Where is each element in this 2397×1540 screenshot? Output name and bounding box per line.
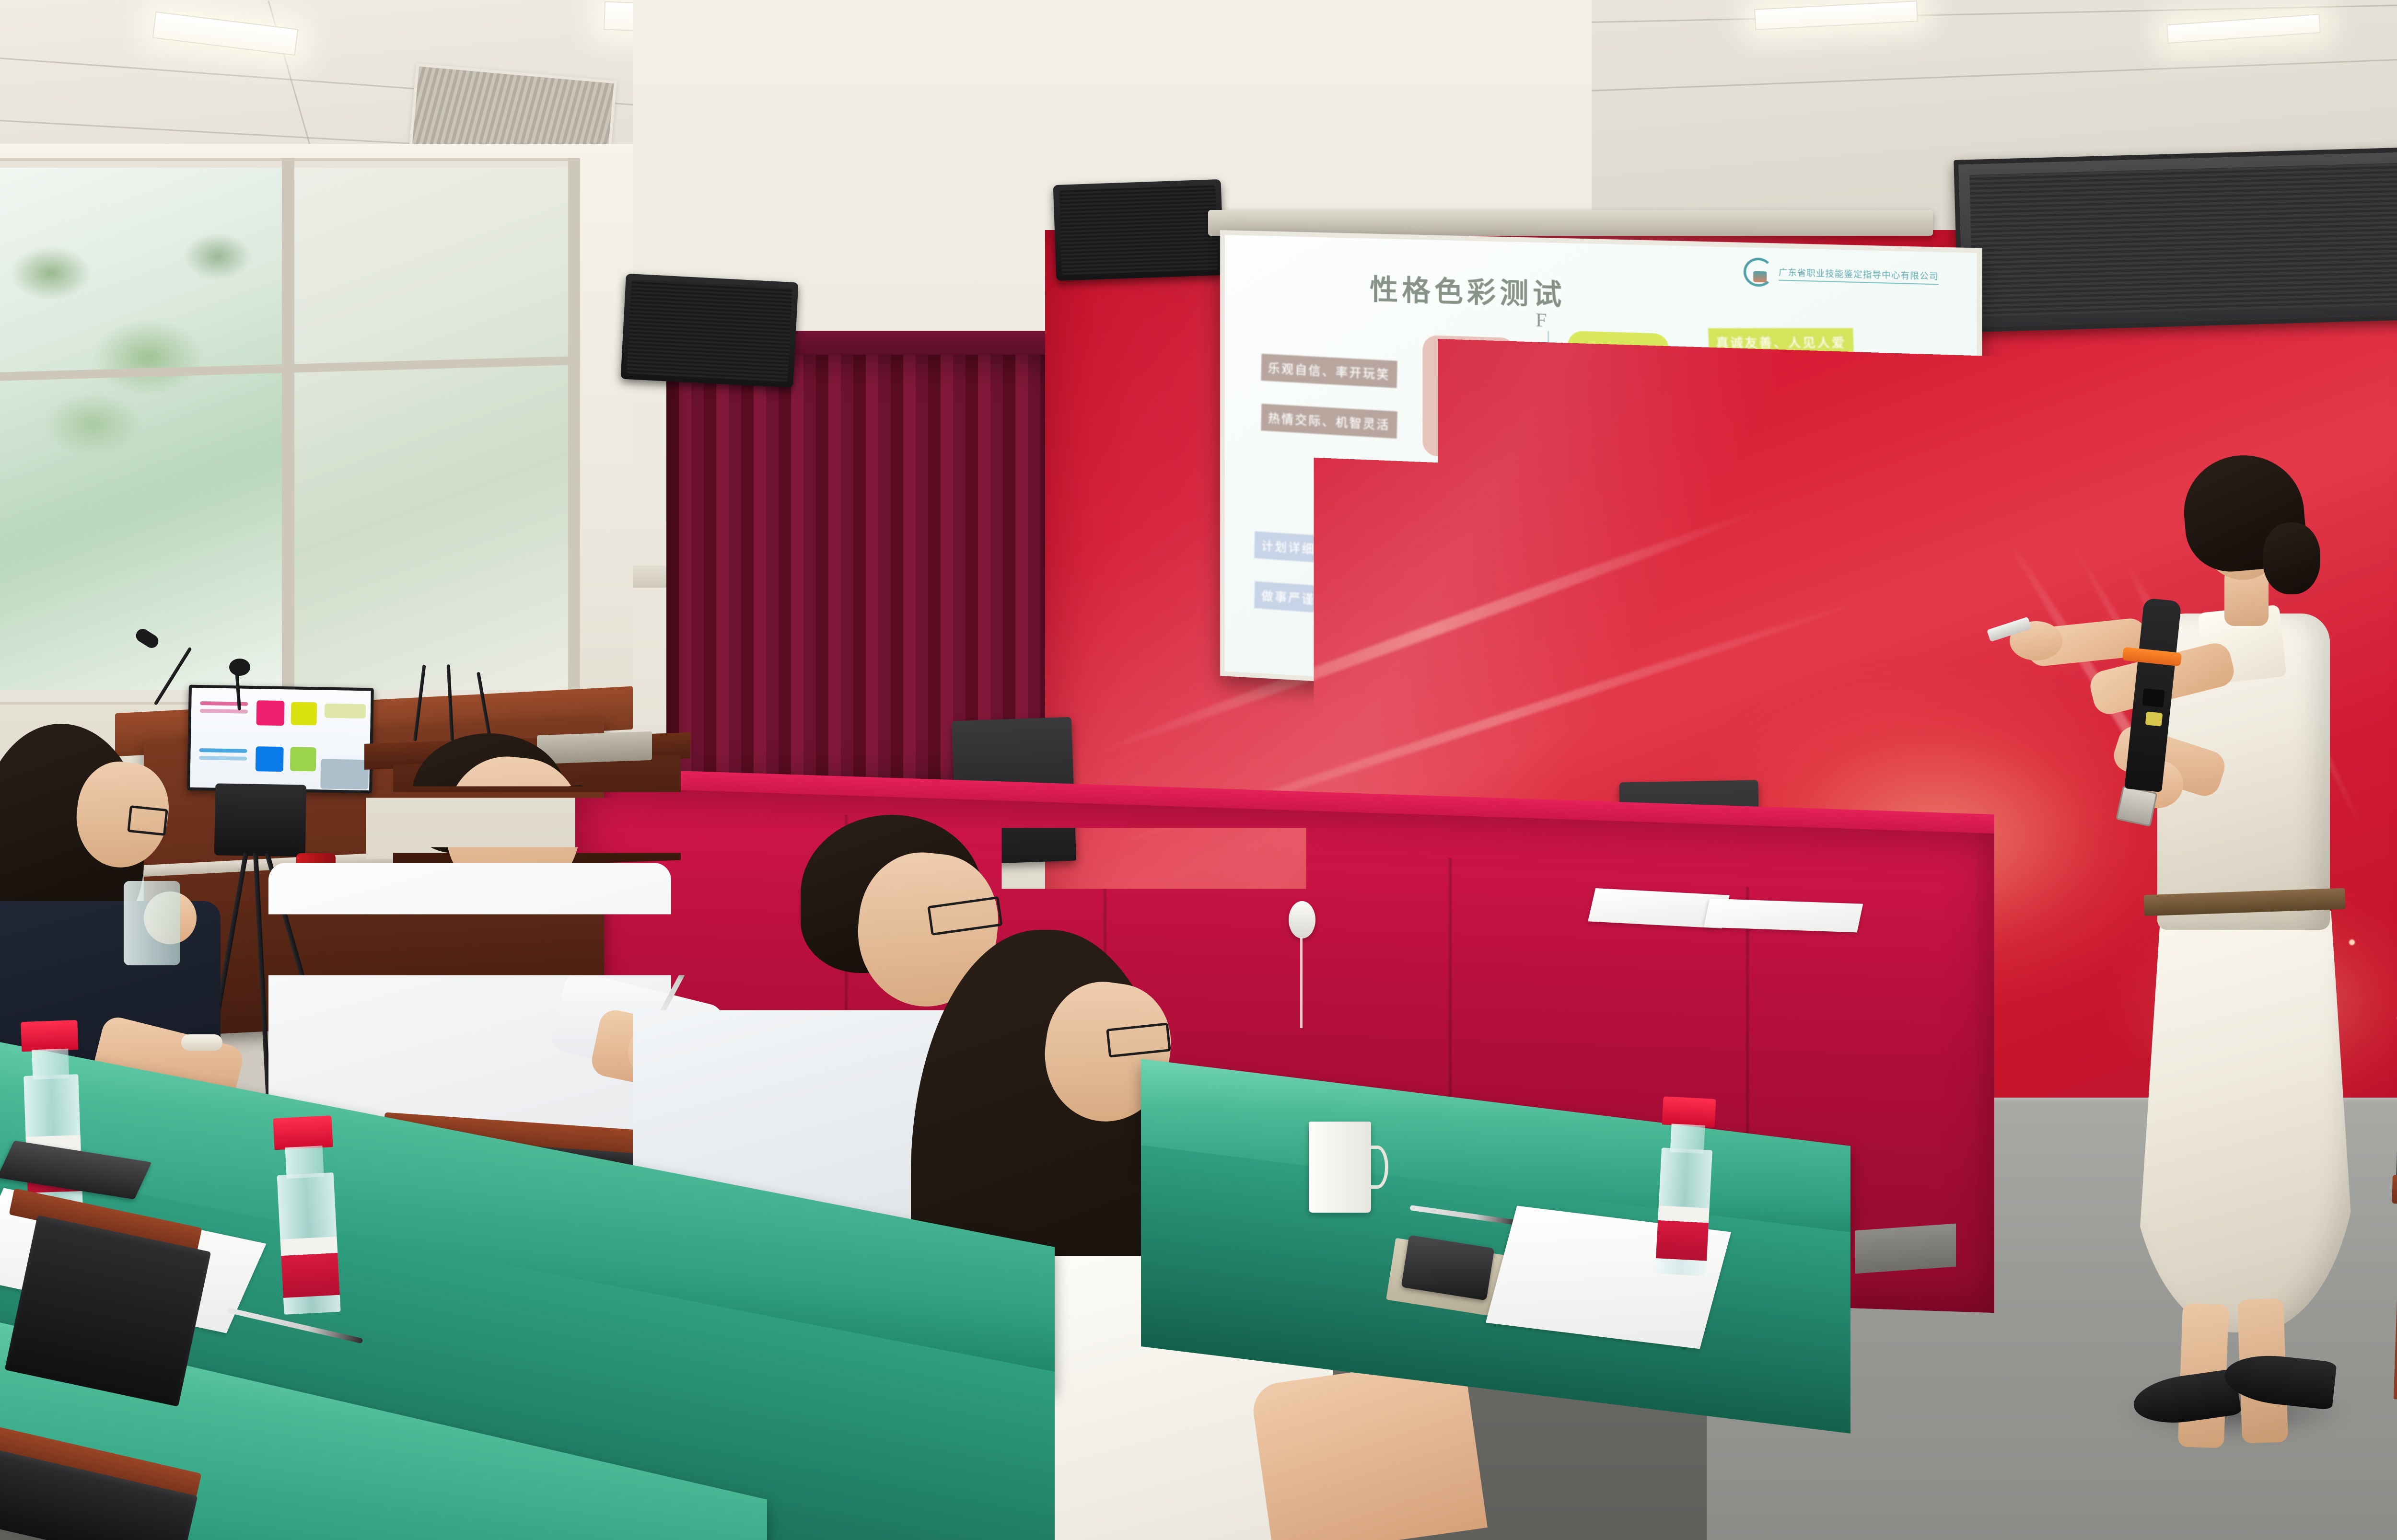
bottle-body [277, 1172, 340, 1315]
mug-handle [1366, 1146, 1388, 1189]
monitor-chip-tile [291, 702, 317, 725]
slide-tag: 稳定低调、追求和谐 [1691, 607, 1836, 638]
wall-speaker [620, 274, 798, 388]
monitor-chip-tile [256, 700, 284, 726]
conference-room-scene: 2025 年 6 月 6 星期 4 15:55:18 性格色彩测试 广东省职业技… [0, 0, 2397, 1540]
slide-tag: 计划详细、思维清晰 [1254, 531, 1390, 567]
presenter-skirt [2129, 911, 2359, 1332]
podium-monitor-screen [190, 688, 371, 790]
document-sheet[interactable] [1704, 899, 1863, 933]
bottle-cap [273, 1115, 333, 1150]
wall-speaker [1053, 179, 1224, 281]
axis-label-f: F [1536, 308, 1547, 332]
bottle-body [1655, 1148, 1712, 1276]
slide-tag: 与人为善、心态轻松 [1694, 552, 1839, 582]
microphone-button[interactable] [2145, 711, 2163, 726]
quadrant-box-yellow [1568, 331, 1669, 466]
slide-tag: 情绪丰富、不拘小节 [1704, 382, 1850, 410]
backdrop-sparkle [2349, 939, 2355, 945]
window-mullion [282, 158, 294, 709]
axis-label-s: S [1536, 665, 1547, 689]
window-foliage [0, 173, 273, 508]
podium-mic-capsule [229, 659, 250, 676]
slide-tag: 热情交际、机智灵活 [1261, 404, 1397, 439]
presenter-hair-bun [2263, 522, 2320, 594]
monitor-chip-bar [199, 756, 247, 761]
cable-hook [1289, 901, 1315, 938]
slide-tag: 做事严谨、追求精确 [1254, 581, 1390, 618]
extinguisher-valve [305, 834, 325, 855]
slide-logo-text: 广东省职业技能鉴定指导中心有限公司 [1779, 265, 1939, 285]
water-glass[interactable] [124, 881, 180, 965]
monitor-chip-bar [199, 748, 247, 753]
projection-screen: 性格色彩测试 广东省职业技能鉴定指导中心有限公司 F T P S 乐观自信、率开… [1220, 230, 1982, 718]
floor-step [1855, 1224, 1956, 1274]
window-mullion [568, 158, 580, 714]
slide-logo: 广东省职业技能鉴定指导中心有限公司 [1744, 257, 1939, 291]
coffee-mug[interactable] [1309, 1122, 1371, 1213]
speaker-grille [627, 279, 792, 382]
presenter-smartwatch [2116, 786, 2157, 827]
table-document-tray [537, 731, 652, 764]
slide-tag: 真诚友善、人见人爱 [1708, 328, 1854, 357]
microphone-display [2142, 688, 2165, 707]
podium-monitor[interactable] [187, 685, 374, 794]
bottle-label [1656, 1205, 1709, 1261]
tripod-head [214, 783, 307, 857]
bottle-label [280, 1237, 339, 1298]
quadrant-box-green [1564, 518, 1663, 661]
window-glass [292, 168, 570, 690]
monitor-chip-bar [325, 704, 366, 718]
panel-inner-grille [1969, 162, 2397, 317]
slide-title: 性格色彩测试 [1370, 266, 1566, 313]
monitor-chip-tile [290, 747, 316, 771]
axis-label-t: T [1379, 487, 1391, 510]
attendee-bracelet [181, 1034, 222, 1051]
bottle-cap [21, 1020, 78, 1052]
company-logo-icon [1744, 257, 1773, 287]
axis-label-p: P [1713, 488, 1724, 512]
wall-display-panel [1954, 147, 2397, 333]
hanging-cable [1300, 937, 1303, 1028]
attendee-glasses [127, 805, 168, 836]
bottle-cap [1662, 1096, 1716, 1127]
water-bottle[interactable] [1654, 1096, 1716, 1276]
monitor-chip-tile [320, 759, 369, 789]
monitor-chip-tile [256, 746, 284, 772]
slide-tag: 乐观自信、率开玩笑 [1261, 354, 1397, 388]
slide-canvas: 性格色彩测试 广东省职业技能鉴定指导中心有限公司 F T P S 乐观自信、率开… [1225, 235, 1977, 713]
water-bottle[interactable] [273, 1115, 341, 1315]
speaker-grille [1059, 185, 1218, 275]
quadrant-box-blue [1417, 516, 1509, 648]
quadrant-box-red [1422, 335, 1515, 459]
slide-horizontal-axis [1404, 496, 1710, 510]
